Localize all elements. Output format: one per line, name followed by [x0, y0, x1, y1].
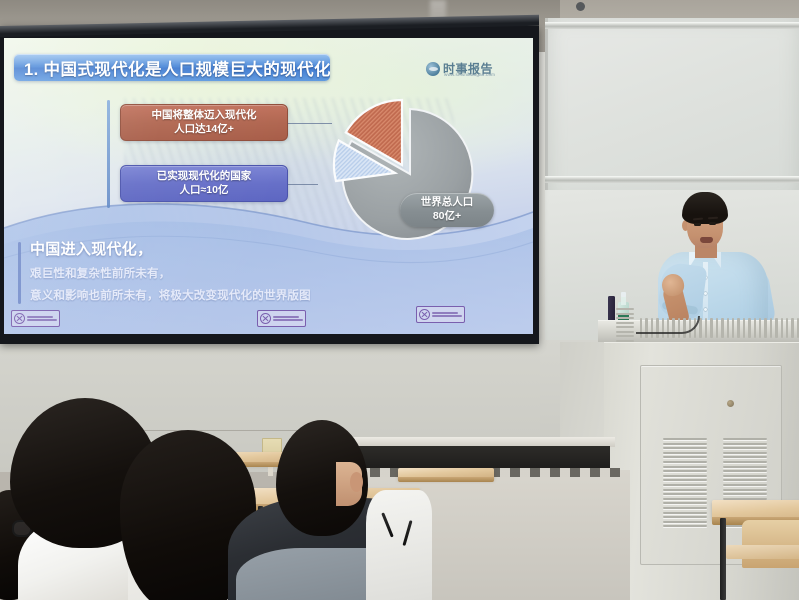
eye-logo-icon — [426, 62, 440, 76]
title-sheen — [14, 54, 330, 66]
cabinet-lock-icon[interactable] — [727, 400, 734, 407]
whiteboard-rail-bottom — [545, 176, 799, 183]
ceiling-speaker-icon — [576, 2, 585, 11]
whiteboard-rail-top — [545, 22, 799, 29]
lecturer-hair — [682, 192, 728, 224]
callout-china-line2: 人口达14亿+ — [174, 123, 234, 136]
no-copy-icon — [14, 313, 25, 324]
slide-title-banner: 1. 中国式现代化是人口规模巨大的现代化 — [14, 54, 330, 81]
cabinet-vent-left — [663, 438, 707, 527]
pie-label-world-total: 世界总人口 80亿+ — [400, 193, 494, 227]
bottle-cap — [621, 292, 627, 297]
callout-developed: 已实现现代化的国家 人口≈10亿 — [120, 165, 288, 202]
callout-china-line1: 中国将整体迈入现代化 — [152, 109, 257, 122]
stamp-text-lines — [273, 316, 303, 322]
no-copy-icon — [260, 313, 271, 324]
student-ear — [350, 472, 363, 492]
lecturer-eye-right — [709, 222, 716, 225]
population-pie-chart — [322, 86, 492, 256]
pill-line1: 世界总人口 — [421, 196, 474, 210]
bottom-line-1: 艰巨性和复杂性前所未有， — [30, 265, 438, 281]
stamp-text-lines — [27, 316, 57, 322]
stamp-text-lines — [432, 312, 462, 318]
publisher-url: www.shishibaogao.com — [444, 72, 495, 77]
callout-accent-bar — [107, 100, 110, 208]
pill-line2: 80亿+ — [433, 210, 461, 224]
equipment-vent-left — [616, 306, 634, 344]
copyright-stamp — [11, 310, 60, 327]
publisher-logo: 时事报告 www.shishibaogao.com — [426, 56, 526, 82]
callout-developed-line2: 人口≈10亿 — [180, 184, 229, 197]
student-sleeve-white — [366, 490, 432, 600]
slide-bottom-text: 中国进入现代化， 艰巨性和复杂性前所未有， 意义和影响也前所未有，将极大改变现代… — [18, 238, 438, 303]
bottle-neck — [621, 296, 626, 305]
bottom-accent-bar — [18, 242, 21, 304]
lecturer-mouth — [700, 237, 713, 243]
copyright-stamp — [416, 306, 465, 323]
bottom-line-2: 意义和影响也前所未有，将极大改变现代化的世界版图 — [30, 287, 438, 303]
leader-line-developed — [288, 184, 318, 185]
presentation-slide: 1. 中国式现代化是人口规模巨大的现代化 时事报告 www.shishibaog… — [4, 38, 533, 334]
power-cable — [636, 316, 700, 334]
callout-china: 中国将整体迈入现代化 人口达14亿+ — [120, 104, 288, 141]
copyright-stamp — [257, 310, 306, 327]
bottom-heading: 中国进入现代化， — [30, 238, 438, 259]
callout-developed-line1: 已实现现代化的国家 — [157, 170, 252, 183]
no-copy-icon — [419, 309, 430, 320]
classroom-photo: 1. 中国式现代化是人口规模巨大的现代化 时事报告 www.shishibaog… — [0, 0, 799, 600]
lecturer-eye-left — [694, 223, 701, 226]
whiteboard — [545, 18, 799, 201]
